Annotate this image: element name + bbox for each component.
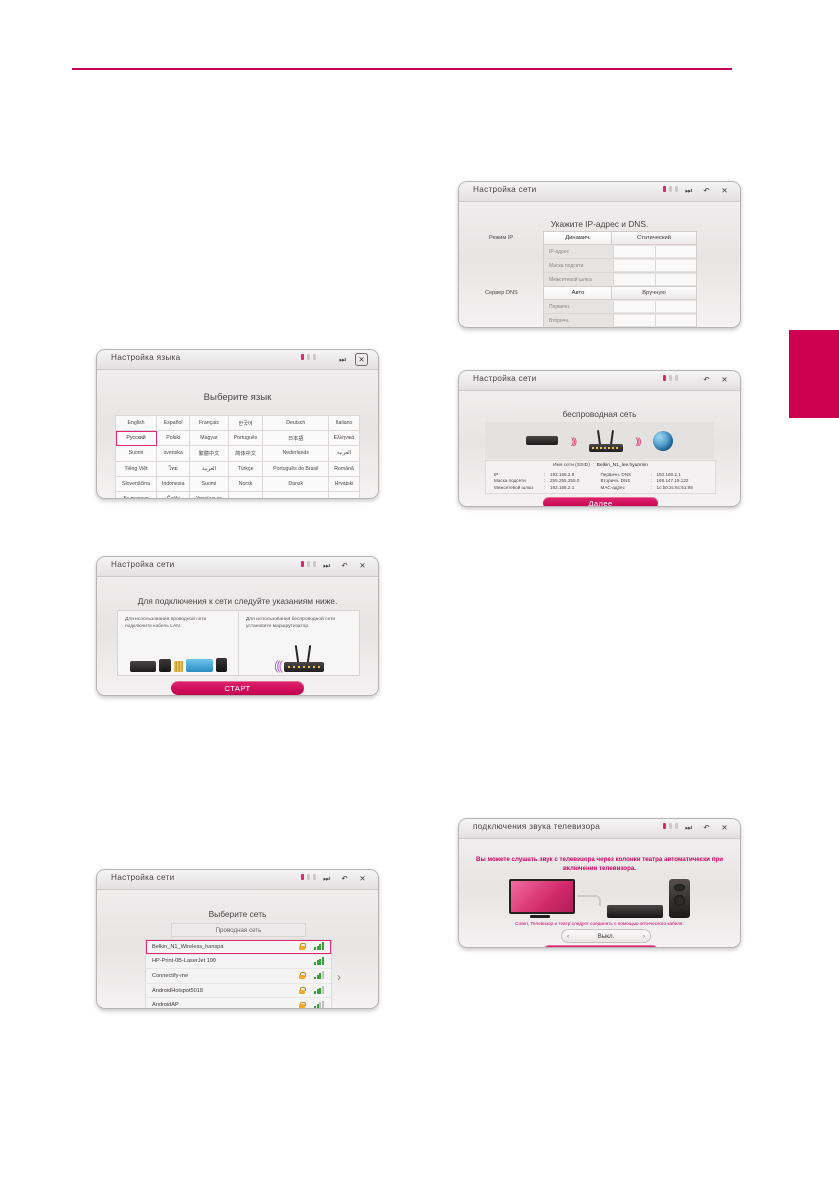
- wired-option: Для использования проводной сети подключ…: [118, 611, 238, 675]
- language-cell[interactable]: 简体中文: [228, 446, 263, 461]
- dns-primary-row[interactable]: Первичн.: [544, 300, 696, 313]
- lock-icon: [299, 987, 305, 994]
- ip-mode-static-button[interactable]: Статический: [611, 231, 697, 245]
- network-list-item[interactable]: Belkin_N1_Wireless_hanspa: [146, 940, 331, 954]
- network-ssid-label: AndroidHotspot5018: [152, 988, 299, 994]
- language-table: EnglishEspañolFrançais한국어DeutschItaliano…: [115, 415, 360, 499]
- dns-primary-input[interactable]: [613, 301, 655, 312]
- gateway-row[interactable]: Межсетевой шлюз: [544, 272, 696, 286]
- info-value: 192.168.2.1: [550, 485, 574, 490]
- close-icon[interactable]: ✕: [357, 560, 368, 571]
- titlebar-icons: ↶ ✕: [701, 374, 730, 385]
- language-cell[interactable]: Norsk: [228, 476, 263, 491]
- language-cell[interactable]: svenska: [157, 446, 190, 461]
- signal-strength-icon: [314, 958, 325, 965]
- language-cell[interactable]: Suomi: [116, 446, 157, 461]
- language-cell-empty: [228, 491, 263, 499]
- ip-details-right: Первичн. DNS:192.168.2.1Вторичн. DNS:168…: [601, 472, 708, 490]
- dns-primary-label: Первичн.: [544, 304, 613, 310]
- stepper-value: Выкл.: [598, 933, 615, 940]
- dialog-body: Выберите язык EnglishEspañolFrançais한국어D…: [97, 370, 378, 499]
- ip-heading: Укажите IP-адрес и DNS.: [459, 219, 740, 229]
- player-device-icon: [526, 436, 558, 445]
- info-key: Межсетевой шлюз: [494, 485, 544, 490]
- language-cell[interactable]: Português do Brasil: [263, 461, 329, 476]
- language-row: Suomisvenska繁體中文简体中文Nederlandsالعربية: [116, 446, 360, 461]
- tv-sound-connection-dialog: подключения звука телевизора ⏭ ↶ ✕ Вы мо…: [458, 818, 741, 948]
- gateway-input[interactable]: [655, 274, 697, 285]
- language-cell[interactable]: العربية: [329, 446, 360, 461]
- info-key: Первичн. DNS: [601, 472, 651, 477]
- next-button[interactable]: Далее: [543, 945, 658, 948]
- network-list-dialog: Настройка сети ⏭ ↶ ✕ Выберите сеть Прово…: [96, 869, 379, 1009]
- language-cell[interactable]: Français: [190, 416, 228, 431]
- language-cell[interactable]: Indonesia: [157, 476, 190, 491]
- info-value: 192.168.2.1: [657, 472, 681, 477]
- status-dots: [301, 874, 316, 880]
- dns-server-label: Сервер DNS: [485, 290, 518, 296]
- wireless-option: Для использования беспроводной сети уста…: [238, 611, 359, 675]
- titlebar: Настройка сети ↶ ✕: [459, 371, 740, 391]
- titlebar: Настройка сети ⏭ ↶ ✕: [97, 557, 378, 577]
- router-illustration: (((: [239, 638, 359, 672]
- ip-address-label: IP-адрес: [544, 249, 613, 255]
- signal-wave-icon: ))): [571, 436, 576, 446]
- language-cell[interactable]: Suomi: [190, 476, 228, 491]
- stepper-next-icon[interactable]: ›: [643, 933, 645, 940]
- next-button[interactable]: Далее: [543, 497, 658, 507]
- language-row: Tiếng ViệtไทยالعربيةTürkçePortuguês do B…: [116, 461, 360, 476]
- titlebar: Настройка сети ⏭ ↶ ✕: [97, 870, 378, 890]
- ip-fields-grid: IP-адрес Маска подсети Межсетевой шлюз: [543, 244, 697, 287]
- speaker-icon: [669, 879, 690, 918]
- language-cell[interactable]: Magyar: [190, 431, 228, 446]
- gateway-label: Межсетевой шлюз: [544, 277, 613, 283]
- titlebar-icons: ⏭ ↶ ✕: [321, 873, 368, 884]
- network-list-item[interactable]: Connectify-me: [146, 968, 331, 983]
- back-icon[interactable]: ↶: [339, 560, 350, 571]
- access-point-list: Belkin_N1_Wireless_hanspaHP-Print-0B-Las…: [145, 939, 332, 1009]
- wireless-caption: Для использования беспроводной сети уста…: [246, 616, 352, 630]
- language-cell[interactable]: Italiano: [329, 416, 360, 431]
- lock-icon: [299, 972, 305, 979]
- info-key: MAC-адрес: [601, 485, 651, 490]
- titlebar: подключения звука телевизора ⏭ ↶ ✕: [459, 819, 740, 839]
- wired-network-item[interactable]: Проводная сеть: [171, 923, 306, 937]
- ip-mode-dynamic-button[interactable]: Динамич.: [543, 231, 613, 245]
- signal-strength-icon: [314, 943, 325, 950]
- signal-wave-icon: ))): [636, 436, 641, 446]
- language-cell-empty: [329, 491, 360, 499]
- status-dots: [663, 823, 678, 829]
- close-icon[interactable]: ✕: [355, 353, 368, 366]
- language-cell[interactable]: Polski: [157, 431, 190, 446]
- connection-options: Для использования проводной сети подключ…: [117, 610, 360, 676]
- dns-secondary-label: Вторичн.: [544, 318, 613, 324]
- signal-strength-icon: [314, 972, 325, 979]
- info-row: Межсетевой шлюз:192.168.2.1: [494, 485, 601, 490]
- home-theater-player-icon: [607, 905, 663, 918]
- skip-icon[interactable]: ⏭: [321, 873, 332, 884]
- skip-icon[interactable]: ⏭: [683, 185, 694, 196]
- ip-dns-setup-dialog: Настройка сети ⏭ ↶ ✕ Укажите IP-адрес и …: [458, 181, 741, 328]
- info-key: IP: [494, 472, 544, 477]
- skip-icon[interactable]: ⏭: [683, 822, 694, 833]
- language-cell[interactable]: Češki: [157, 491, 190, 499]
- dialog-body: Укажите IP-адрес и DNS. Режим IP Динамич…: [459, 202, 740, 328]
- titlebar-icons: ⏭ ✕: [337, 353, 368, 366]
- dns-primary-input[interactable]: [655, 301, 697, 312]
- language-cell[interactable]: العربية: [190, 461, 228, 476]
- tv-icon: [509, 879, 571, 918]
- skip-icon[interactable]: ⏭: [337, 354, 348, 365]
- language-cell[interactable]: 한국어: [228, 416, 263, 431]
- network-setup-start-dialog: Настройка сети ⏭ ↶ ✕ Для подключения к с…: [96, 556, 379, 696]
- select-network-heading: Выберите сеть: [97, 909, 378, 919]
- language-cell[interactable]: English: [116, 416, 157, 431]
- router-icon: [589, 430, 623, 452]
- language-cell[interactable]: Slovenščina: [116, 476, 157, 491]
- info-row: Вторичн. DNS:168.147.19.122: [601, 478, 708, 483]
- subnet-mask-input[interactable]: [613, 260, 655, 271]
- info-value: 192.168.2.8: [550, 472, 574, 477]
- page-side-tab: [789, 330, 839, 418]
- connection-diagram: ))) ))): [485, 422, 714, 459]
- language-setup-dialog: Настройка языка ⏭ ✕ Выберите язык Englis…: [96, 349, 379, 499]
- optical-cable-icon: [577, 895, 601, 906]
- language-cell[interactable]: Ελληνικά: [329, 431, 360, 446]
- subnet-mask-input[interactable]: [655, 260, 697, 271]
- back-icon[interactable]: ↶: [339, 873, 350, 884]
- info-row: Маска подсети:255.255.255.0: [494, 478, 601, 483]
- dialog-title: Настройка сети: [473, 185, 536, 194]
- network-ssid-label: AndroidAP: [152, 1002, 299, 1008]
- tv-setup-illustration: [499, 877, 699, 918]
- language-cell[interactable]: Nederlands: [263, 446, 329, 461]
- instruction-heading: Для подключения к сети следуйте указания…: [97, 596, 378, 606]
- dialog-body: Выберите сеть Проводная сеть Belkin_N1_W…: [97, 890, 378, 1009]
- network-ssid-label: HP-Print-0B-LaserJet 100: [152, 958, 299, 964]
- close-icon[interactable]: ✕: [719, 822, 730, 833]
- status-dots: [663, 186, 678, 192]
- stepper-prev-icon[interactable]: ‹: [567, 933, 569, 940]
- network-list-item[interactable]: AndroidAP: [146, 997, 331, 1009]
- language-row: БългарскиČeškiУкраїнська: [116, 491, 360, 499]
- dialog-title: Настройка языка: [111, 353, 180, 362]
- subnet-mask-row[interactable]: Маска подсети: [544, 258, 696, 272]
- gateway-input[interactable]: [613, 274, 655, 285]
- network-list-item[interactable]: AndroidHotspot5018: [146, 983, 331, 998]
- language-heading: Выберите язык: [97, 392, 378, 403]
- dns-secondary-row[interactable]: Вторичн.: [544, 313, 696, 327]
- language-cell[interactable]: Tiếng Việt: [116, 461, 157, 476]
- dns-manual-button[interactable]: Вручную: [611, 286, 697, 300]
- dns-fields-grid: Первичн. Вторичн.: [543, 299, 697, 328]
- page-header-rule: [72, 68, 732, 70]
- language-row: РусскийPolskiMagyarPortuguês日本語Ελληνικά: [116, 431, 360, 446]
- language-cell[interactable]: Українська: [190, 491, 228, 499]
- start-button[interactable]: СТАРТ: [171, 681, 304, 695]
- tv-sound-stepper[interactable]: ‹ Выкл. ›: [561, 929, 651, 943]
- language-cell[interactable]: 繁體中文: [190, 446, 228, 461]
- language-cell[interactable]: Türkçe: [228, 461, 263, 476]
- close-icon[interactable]: ✕: [719, 185, 730, 196]
- network-info-box: Имя сети (SSID) : Belkin_N1_lee.hyunmin …: [485, 460, 716, 494]
- network-list-item[interactable]: HP-Print-0B-LaserJet 100: [146, 954, 331, 969]
- signal-strength-icon: [314, 1002, 325, 1009]
- language-cell[interactable]: Deutsch: [263, 416, 329, 431]
- close-icon[interactable]: ✕: [357, 873, 368, 884]
- ssid-value: Belkin_N1_lee.hyunmin: [597, 463, 648, 468]
- dialog-body: Вы можете слушать звук с телевизора чере…: [459, 839, 740, 948]
- subnet-mask-label: Маска подсети: [544, 263, 613, 269]
- titlebar-icons: ⏭ ↶ ✕: [683, 185, 730, 196]
- info-value: 1c:b0:3c:6c:51:98: [657, 485, 693, 490]
- titlebar: Настройка сети ⏭ ↶ ✕: [459, 182, 740, 202]
- info-key: Вторичн. DNS: [601, 478, 651, 483]
- status-dots: [663, 375, 678, 381]
- ssid-label: Имя сети (SSID): [553, 463, 590, 468]
- language-cell[interactable]: Hrvatski: [329, 476, 360, 491]
- language-cell[interactable]: Română: [329, 461, 360, 476]
- dns-auto-button[interactable]: Авто: [543, 286, 613, 300]
- wireless-heading: беспроводная сеть: [459, 409, 740, 419]
- lan-cable-illustration: [118, 638, 238, 672]
- language-cell[interactable]: Русский: [116, 431, 157, 446]
- wired-caption: Для использования проводной сети подключ…: [125, 616, 231, 630]
- language-cell[interactable]: Dansk: [263, 476, 329, 491]
- dialog-body: Для подключения к сети следуйте указания…: [97, 577, 378, 696]
- network-ssid-label: Belkin_N1_Wireless_hanspa: [152, 944, 299, 950]
- manual-page: Настройка языка ⏭ ✕ Выберите язык Englis…: [0, 0, 839, 1191]
- close-icon[interactable]: ✕: [719, 374, 730, 385]
- back-icon[interactable]: ↶: [701, 374, 712, 385]
- ip-address-input[interactable]: [613, 246, 655, 257]
- titlebar: Настройка языка ⏭ ✕: [97, 350, 378, 370]
- info-row: IP:192.168.2.8: [494, 472, 601, 477]
- ip-details-left: IP:192.168.2.8Маска подсети:255.255.255.…: [494, 472, 601, 490]
- back-icon[interactable]: ↶: [701, 822, 712, 833]
- dialog-title: Настройка сети: [111, 560, 174, 569]
- info-value: 168.147.19.122: [657, 478, 689, 483]
- lock-icon: [299, 1002, 305, 1009]
- skip-icon[interactable]: ⏭: [321, 560, 332, 571]
- language-row: EnglishEspañolFrançais한국어DeutschItaliano: [116, 416, 360, 431]
- network-ssid-label: Connectify-me: [152, 973, 299, 979]
- ip-address-input[interactable]: [655, 246, 697, 257]
- dialog-title: Настройка сети: [111, 873, 174, 882]
- language-cell[interactable]: ไทย: [157, 461, 190, 476]
- internet-globe-icon: [653, 431, 673, 451]
- signal-strength-icon: [314, 987, 325, 994]
- status-dots: [301, 354, 316, 360]
- status-dots: [301, 561, 316, 567]
- language-cell[interactable]: Português: [228, 431, 263, 446]
- next-page-arrow-icon[interactable]: ›: [337, 970, 379, 984]
- dialog-body: беспроводная сеть ))) ))) Имя сети (SSID…: [459, 391, 740, 507]
- language-row: SlovenščinaIndonesiaSuomiNorskDanskHrvat…: [116, 476, 360, 491]
- lock-icon: [299, 943, 305, 950]
- tv-sound-heading: Вы можете слушать звук с телевизора чере…: [471, 856, 728, 873]
- info-key: Маска подсети: [494, 478, 544, 483]
- dialog-title: Настройка сети: [473, 374, 536, 383]
- titlebar-icons: ⏭ ↶ ✕: [683, 822, 730, 833]
- language-cell[interactable]: 日本語: [263, 431, 329, 446]
- ip-details-grid: IP:192.168.2.8Маска подсети:255.255.255.…: [494, 472, 707, 490]
- dns-secondary-input[interactable]: [655, 315, 697, 326]
- dialog-title: подключения звука телевизора: [473, 822, 600, 831]
- back-icon[interactable]: ↶: [701, 185, 712, 196]
- language-cell-empty: [263, 491, 329, 499]
- wifi-waves-icon: (((: [274, 659, 281, 672]
- language-cell[interactable]: Español: [157, 416, 190, 431]
- language-cell[interactable]: Български: [116, 491, 157, 499]
- info-row: Первичн. DNS:192.168.2.1: [601, 472, 708, 477]
- titlebar-icons: ⏭ ↶ ✕: [321, 560, 368, 571]
- ssid-line: Имя сети (SSID) : Belkin_N1_lee.hyunmin: [486, 463, 715, 468]
- info-value: 255.255.255.0: [550, 478, 579, 483]
- wireless-info-dialog: Настройка сети ↶ ✕ беспроводная сеть )))…: [458, 370, 741, 507]
- ip-mode-label: Режим IP: [489, 235, 513, 241]
- info-row: MAC-адрес:1c:b0:3c:6c:51:98: [601, 485, 708, 490]
- tip-text: Совет, Телевизор и театр следует соедини…: [469, 921, 730, 926]
- dns-secondary-input[interactable]: [613, 315, 655, 326]
- ip-address-row[interactable]: IP-адрес: [544, 245, 696, 258]
